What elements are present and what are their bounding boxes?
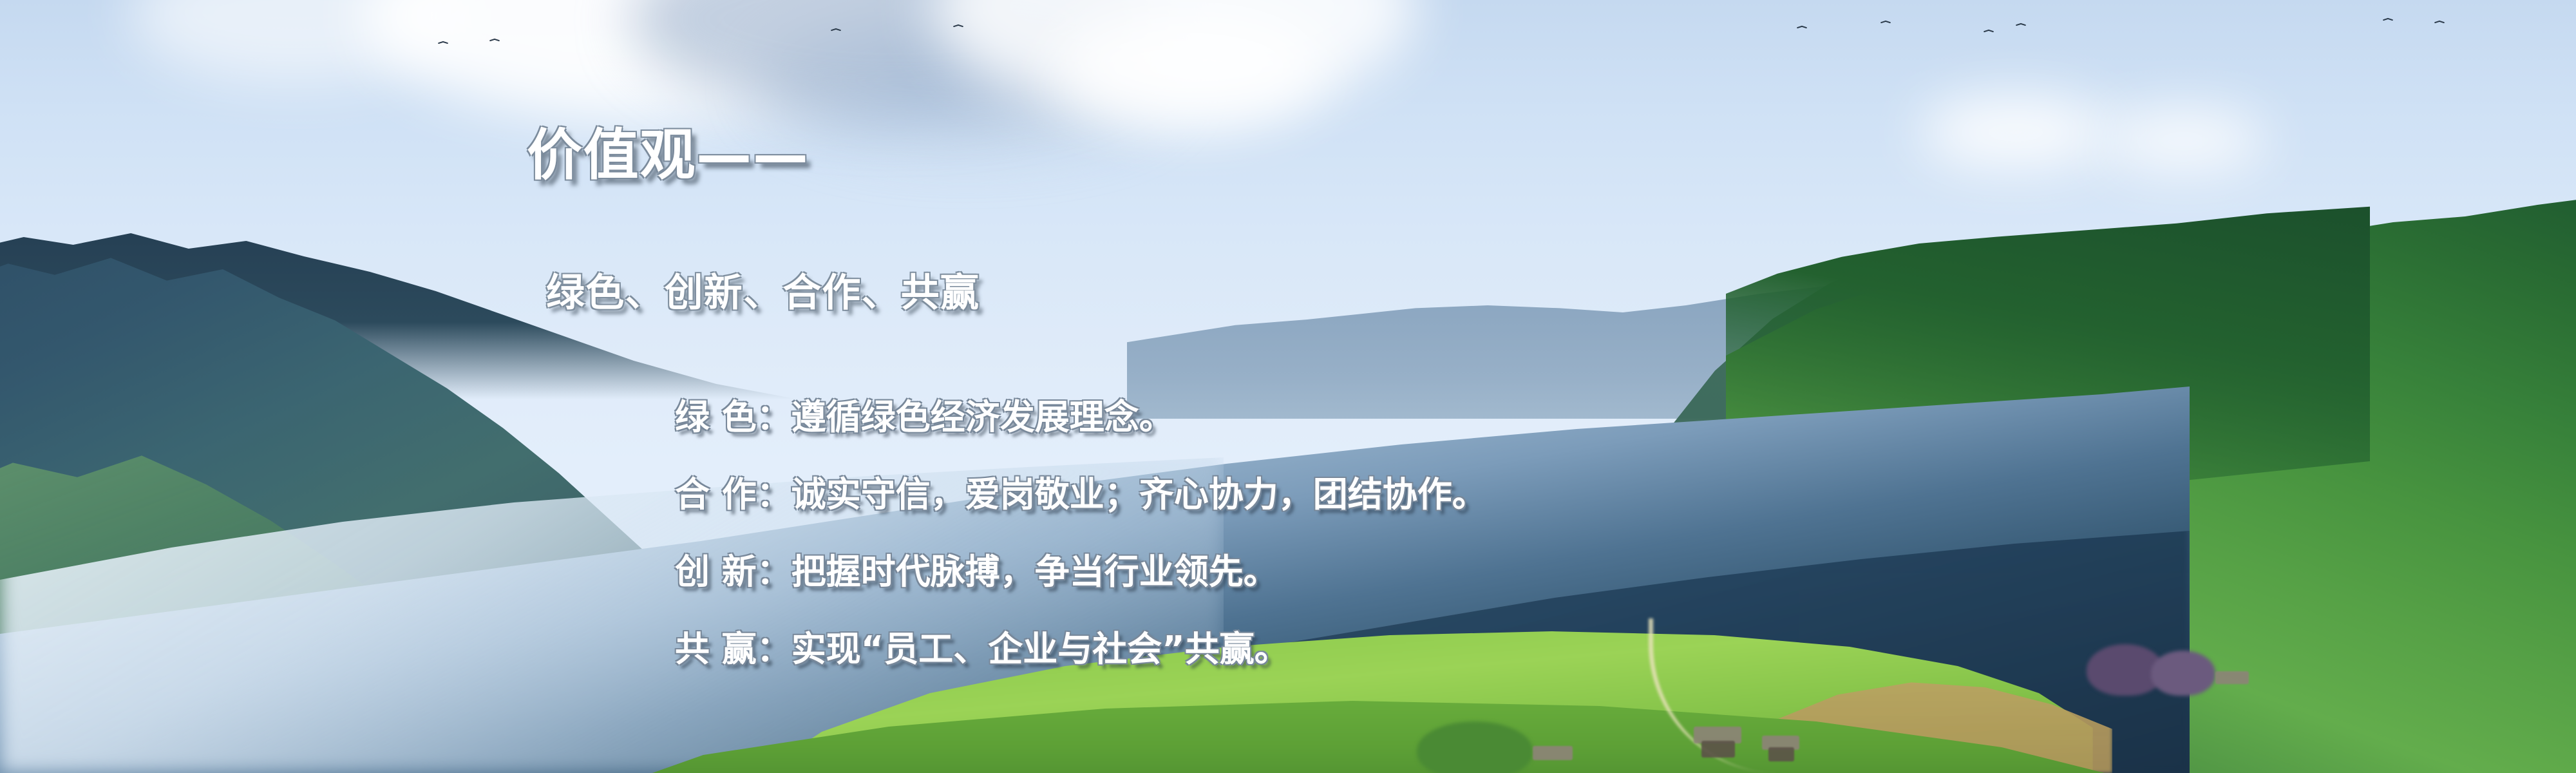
values-subtitle: 绿色、创新、合作、共赢 xyxy=(546,262,980,318)
village-roof xyxy=(1533,746,1573,760)
values-list-item: 共 赢：实现“员工、企业与社会”共赢。 xyxy=(675,611,1487,688)
page-title: 价值观—— xyxy=(527,126,810,184)
values-list-item: 创 新：把握时代脉搏，争当行业领先。 xyxy=(675,533,1487,611)
village-house xyxy=(1701,741,1735,758)
village-house xyxy=(1768,747,1794,761)
values-list: 绿 色：遵循绿色经济发展理念。 合 作：诚实守信，爱岗敬业；齐心协力，团结协作。… xyxy=(675,379,1487,688)
village-roof xyxy=(2215,671,2249,684)
values-list-item: 合 作：诚实守信，爱岗敬业；齐心协力，团结协作。 xyxy=(675,456,1487,533)
values-list-item: 绿 色：遵循绿色经济发展理念。 xyxy=(675,379,1487,456)
tree-cluster xyxy=(2151,651,2215,696)
tree-cluster xyxy=(1417,721,1533,773)
values-banner: 价值观—— 绿色、创新、合作、共赢 绿 色：遵循绿色经济发展理念。 合 作：诚实… xyxy=(0,0,2576,773)
